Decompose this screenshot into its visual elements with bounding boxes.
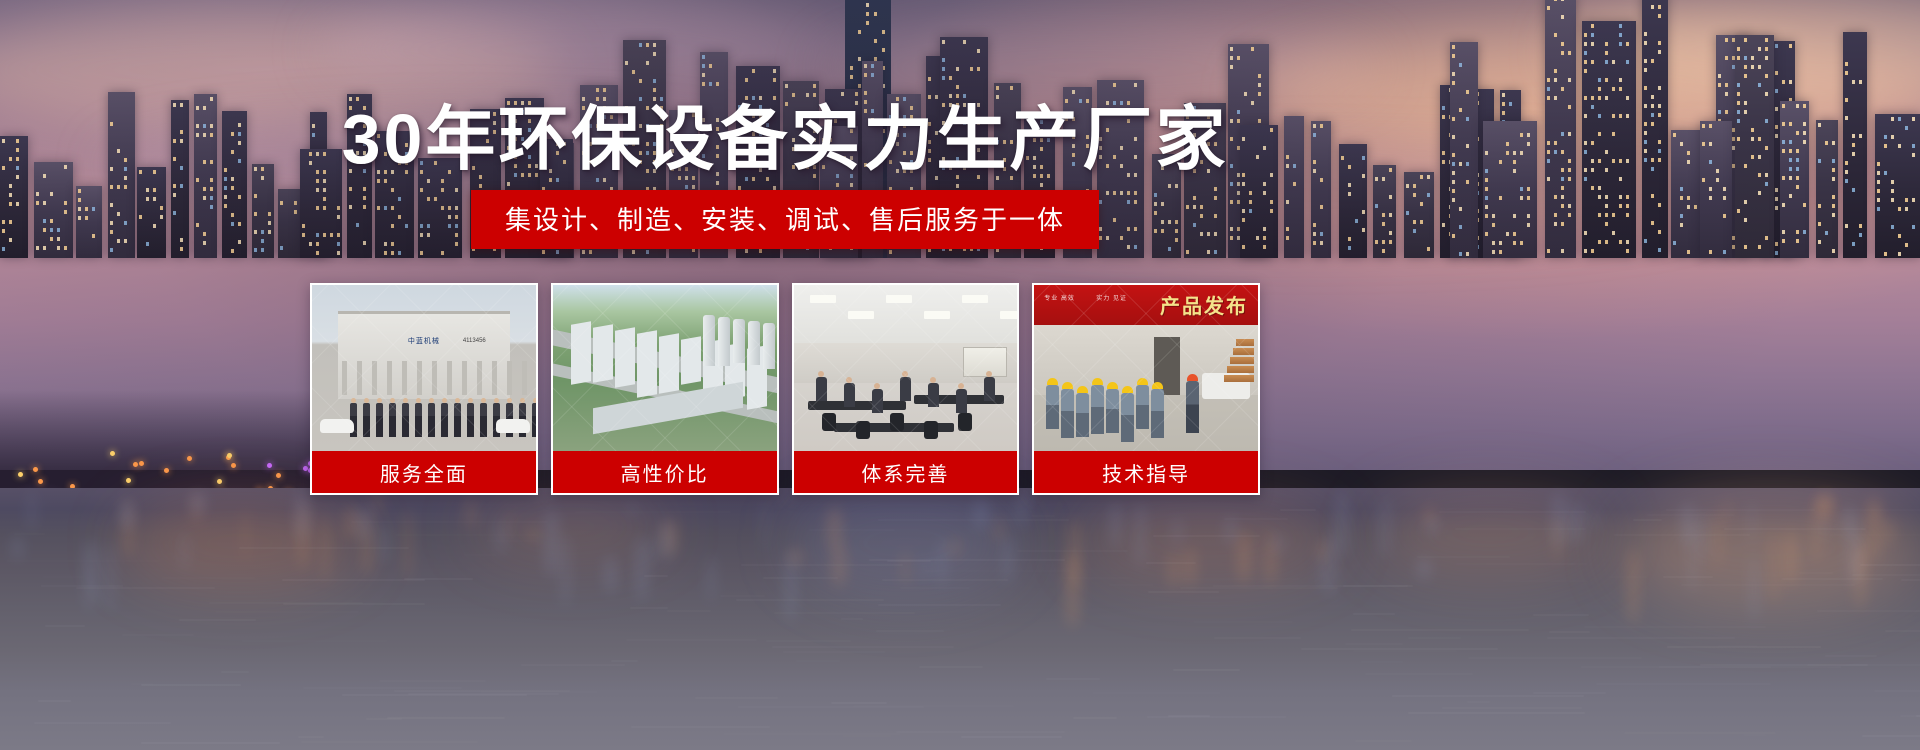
office-chair bbox=[924, 421, 938, 439]
building-column bbox=[387, 361, 392, 395]
office-worker bbox=[872, 389, 883, 413]
stacked-material bbox=[1227, 366, 1254, 373]
banner-content: 30年环保设备实力生产厂家 集设计、制造、安装、调试、售后服务于一体 中蓝机械 … bbox=[0, 0, 1920, 750]
staff-figure bbox=[376, 403, 383, 437]
office-worker bbox=[984, 377, 995, 401]
office-worker bbox=[928, 383, 939, 407]
ceiling-light bbox=[924, 311, 950, 319]
page-title: 30年环保设备实力生产厂家 bbox=[0, 102, 1570, 178]
card-photo-plant bbox=[553, 285, 777, 451]
card-caption: 技术指导 bbox=[1034, 451, 1258, 493]
staff-figure bbox=[480, 403, 487, 437]
feature-card-service[interactable]: 中蓝机械 4113456 服务全面 bbox=[310, 283, 538, 495]
worker-figure bbox=[1151, 389, 1164, 438]
building-column bbox=[507, 361, 512, 395]
building-column bbox=[417, 361, 422, 395]
workshop-slogan-right: 实力 见证 bbox=[1096, 293, 1127, 302]
hero-banner: 30年环保设备实力生产厂家 集设计、制造、安装、调试、售后服务于一体 中蓝机械 … bbox=[0, 0, 1920, 750]
storage-silo bbox=[748, 321, 760, 365]
stacked-material bbox=[1236, 339, 1254, 346]
building-column bbox=[492, 361, 497, 395]
card-photo-headquarters: 中蓝机械 4113456 bbox=[312, 285, 536, 451]
staff-figure bbox=[454, 403, 461, 437]
building-column bbox=[462, 361, 467, 395]
office-worker bbox=[900, 377, 911, 401]
ceiling-light bbox=[962, 295, 988, 303]
office-desk bbox=[808, 401, 906, 410]
storage-silo bbox=[733, 319, 745, 363]
feature-card-value[interactable]: 高性价比 bbox=[551, 283, 779, 495]
ceiling-light bbox=[810, 295, 836, 303]
workshop-banner-text: 产品发布 bbox=[1160, 290, 1248, 319]
plant-structure bbox=[659, 333, 679, 393]
stacked-material bbox=[1224, 375, 1254, 382]
office-chair bbox=[890, 413, 904, 431]
building-sign-text: 中蓝机械 bbox=[408, 336, 440, 346]
office-chair bbox=[856, 421, 870, 439]
card-caption: 体系完善 bbox=[794, 451, 1018, 493]
card-caption: 服务全面 bbox=[312, 451, 536, 493]
ceiling-light bbox=[1000, 311, 1018, 319]
building-column bbox=[357, 361, 362, 395]
plant-structure bbox=[615, 327, 635, 388]
card-photo-workshop: 产品发布 专业 高效 实力 见证 bbox=[1034, 285, 1258, 451]
storage-silo bbox=[763, 323, 775, 369]
subtitle-badge: 集设计、制造、安装、调试、售后服务于一体 bbox=[471, 190, 1099, 249]
office-ceiling bbox=[794, 285, 1018, 343]
ceiling-light bbox=[886, 295, 912, 303]
plant-structure bbox=[571, 321, 591, 385]
building-column bbox=[447, 361, 452, 395]
office-worker bbox=[844, 383, 855, 407]
worker-figure bbox=[1091, 385, 1104, 434]
building-column bbox=[477, 361, 482, 395]
plant-structure bbox=[593, 324, 613, 383]
card-caption: 高性价比 bbox=[553, 451, 777, 493]
office-worker bbox=[816, 377, 827, 401]
building-column bbox=[432, 361, 437, 395]
workshop-slogan-left: 专业 高效 bbox=[1044, 293, 1075, 302]
building-column bbox=[402, 361, 407, 395]
building-column bbox=[342, 361, 347, 395]
worker-figure bbox=[1061, 389, 1074, 438]
staff-figure bbox=[363, 403, 370, 437]
staff-figure bbox=[402, 403, 409, 437]
building-column bbox=[372, 361, 377, 395]
plant-structure bbox=[681, 336, 701, 384]
feature-card-guidance[interactable]: 产品发布 专业 高效 实力 见证 技术指导 bbox=[1032, 283, 1260, 495]
plant-structure bbox=[637, 330, 657, 398]
worker-figure bbox=[1136, 385, 1149, 429]
storage-silo bbox=[718, 317, 730, 366]
worker-figure bbox=[1121, 393, 1134, 442]
supervisor-figure bbox=[1186, 381, 1199, 433]
workshop-red-banner: 产品发布 专业 高效 实力 见证 bbox=[1034, 285, 1258, 325]
staff-figure bbox=[428, 403, 435, 437]
parked-car bbox=[320, 419, 354, 433]
worker-figure bbox=[1076, 393, 1089, 437]
worker-figure bbox=[1106, 389, 1119, 433]
office-chair bbox=[958, 413, 972, 431]
building-column bbox=[522, 361, 527, 395]
building-phone-text: 4113456 bbox=[463, 338, 486, 344]
parked-car bbox=[496, 419, 530, 433]
stacked-material bbox=[1230, 357, 1254, 364]
staff-figure bbox=[532, 403, 536, 437]
worker-figure bbox=[1046, 385, 1059, 429]
office-worker bbox=[956, 389, 967, 413]
staff-figure bbox=[415, 403, 422, 437]
storage-silo bbox=[703, 315, 715, 366]
staff-figure bbox=[441, 403, 448, 437]
card-photo-office bbox=[794, 285, 1018, 451]
headquarters-building: 中蓝机械 4113456 bbox=[338, 311, 510, 399]
staff-figure bbox=[389, 403, 396, 437]
ceiling-light bbox=[848, 311, 874, 319]
stacked-material bbox=[1233, 348, 1254, 355]
office-chair bbox=[822, 413, 836, 431]
feature-card-list: 中蓝机械 4113456 服务全面 高性价比 bbox=[310, 283, 1260, 495]
subtitle-wrapper: 集设计、制造、安装、调试、售后服务于一体 bbox=[0, 190, 1570, 249]
staff-figure bbox=[467, 403, 474, 437]
feature-card-system[interactable]: 体系完善 bbox=[792, 283, 1020, 495]
